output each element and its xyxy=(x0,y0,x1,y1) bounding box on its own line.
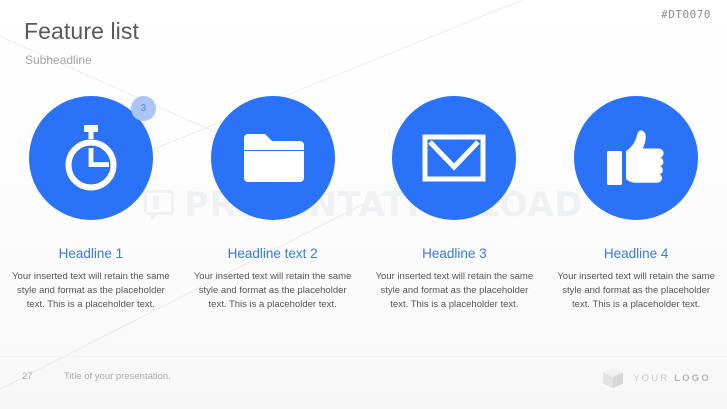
feature-body-2: Your inserted text will retain the same … xyxy=(193,270,353,312)
page-subtitle: Subheadline xyxy=(25,53,92,67)
logo-text-light: YOUR xyxy=(633,373,674,384)
feature-column-1: 3 Headline 1 Your inserted text will ret… xyxy=(0,96,182,312)
feature-body-1: Your inserted text will retain the same … xyxy=(11,270,171,312)
feature-columns: 3 Headline 1 Your inserted text will ret… xyxy=(0,96,727,312)
icon-circle-4[interactable] xyxy=(574,96,698,220)
logo-text: YOUR LOGO xyxy=(633,373,711,384)
icon-circle-3[interactable] xyxy=(392,96,516,220)
logo: YOUR LOGO xyxy=(602,367,711,389)
folder-icon xyxy=(242,132,304,184)
feature-body-4: Your inserted text will retain the same … xyxy=(556,270,716,312)
icon-circle-wrapper-1: 3 xyxy=(29,96,153,220)
badge-count-1[interactable]: 3 xyxy=(131,96,156,121)
icon-circle-2[interactable] xyxy=(211,96,335,220)
icon-circle-wrapper-3 xyxy=(392,96,516,220)
feature-column-4: Headline 4 Your inserted text will retai… xyxy=(545,96,727,312)
feature-column-3: Headline 3 Your inserted text will retai… xyxy=(364,96,546,312)
stopwatch-icon xyxy=(60,125,122,191)
feature-column-2: Headline text 2 Your inserted text will … xyxy=(182,96,364,312)
cube-icon xyxy=(602,367,624,389)
footer-divider xyxy=(0,356,727,357)
feature-body-3: Your inserted text will retain the same … xyxy=(374,270,534,312)
feature-headline-2: Headline text 2 xyxy=(228,246,318,261)
envelope-icon xyxy=(422,134,486,182)
footer-title: Title of your presentation. xyxy=(64,371,171,382)
feature-headline-1: Headline 1 xyxy=(59,246,124,261)
page-title: Feature list xyxy=(24,18,139,45)
thumbs-up-icon xyxy=(605,129,667,187)
icon-circle-wrapper-4 xyxy=(574,96,698,220)
feature-headline-4: Headline 4 xyxy=(604,246,669,261)
slide: PRESENTATIONLOAD #DT0070 Feature list Su… xyxy=(0,0,727,409)
template-code: #DT0070 xyxy=(661,8,711,21)
page-number: 27 xyxy=(22,371,33,382)
feature-headline-3: Headline 3 xyxy=(422,246,487,261)
logo-text-bold: LOGO xyxy=(674,373,711,384)
icon-circle-wrapper-2 xyxy=(211,96,335,220)
